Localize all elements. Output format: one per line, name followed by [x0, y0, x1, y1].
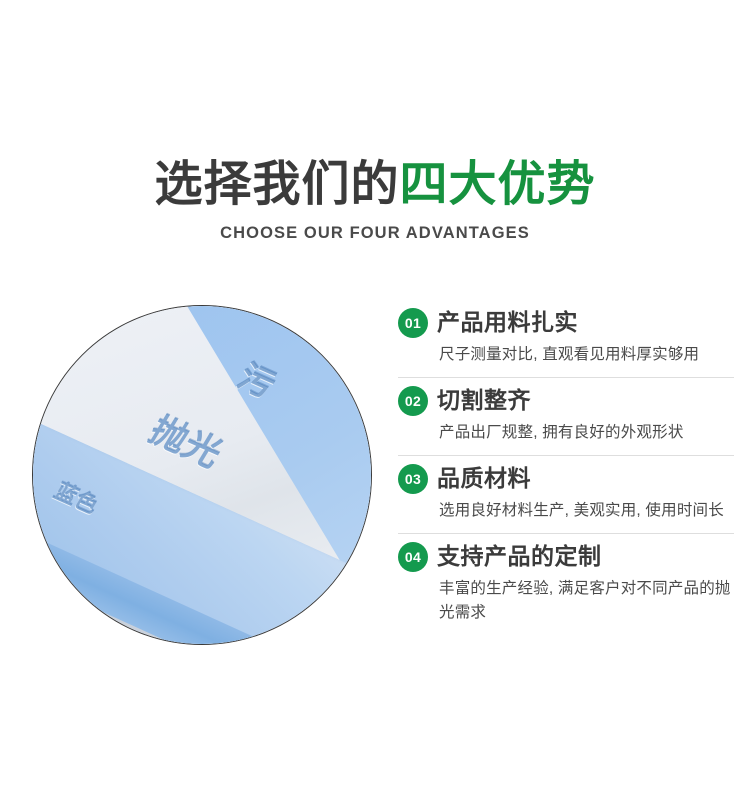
advantage-header: 01 产品用料扎实: [398, 308, 734, 338]
product-emboss-text-middle: 抛光: [141, 403, 234, 477]
page-subtitle: CHOOSE OUR FOUR ADVANTAGES: [0, 224, 750, 243]
advantage-description: 选用良好材料生产, 美观实用, 使用时间长: [439, 499, 734, 523]
advantage-number-badge: 02: [398, 386, 428, 416]
advantage-title: 支持产品的定制: [437, 544, 602, 569]
product-photo-circle: 污 抛光 蓝色: [32, 305, 372, 645]
advantage-header: 04 支持产品的定制: [398, 542, 734, 572]
advantage-item: 01 产品用料扎实 尺子测量对比, 直观看见用料厚实够用: [398, 300, 734, 378]
advantage-description: 产品出厂规整, 拥有良好的外观形状: [439, 421, 734, 445]
page-title-accent: 四大优势: [400, 158, 596, 211]
advantage-header: 03 品质材料: [398, 464, 734, 494]
advantage-number-badge: 04: [398, 542, 428, 572]
page-header: 选择我们的四大优势 CHOOSE OUR FOUR ADVANTAGES: [0, 160, 750, 243]
advantage-item: 03 品质材料 选用良好材料生产, 美观实用, 使用时间长: [398, 456, 734, 534]
advantage-title: 切割整齐: [437, 388, 531, 413]
advantage-description: 尺子测量对比, 直观看见用料厚实够用: [439, 343, 734, 367]
advantage-item: 02 切割整齐 产品出厂规整, 拥有良好的外观形状: [398, 378, 734, 456]
advantage-number-badge: 03: [398, 464, 428, 494]
page-title-plain: 选择我们的: [154, 158, 399, 211]
product-photo-background: 污 抛光 蓝色: [33, 306, 371, 644]
advantage-number-badge: 01: [398, 308, 428, 338]
page-title: 选择我们的四大优势: [0, 160, 750, 210]
advantage-title: 品质材料: [437, 466, 531, 491]
advantage-description: 丰富的生产经验, 满足客户对不同产品的抛光需求: [439, 577, 734, 625]
advantages-list: 01 产品用料扎实 尺子测量对比, 直观看见用料厚实够用 02 切割整齐 产品出…: [398, 300, 734, 635]
advantage-item: 04 支持产品的定制 丰富的生产经验, 满足客户对不同产品的抛光需求: [398, 534, 734, 635]
advantage-header: 02 切割整齐: [398, 386, 734, 416]
advantage-title: 产品用料扎实: [437, 310, 578, 335]
